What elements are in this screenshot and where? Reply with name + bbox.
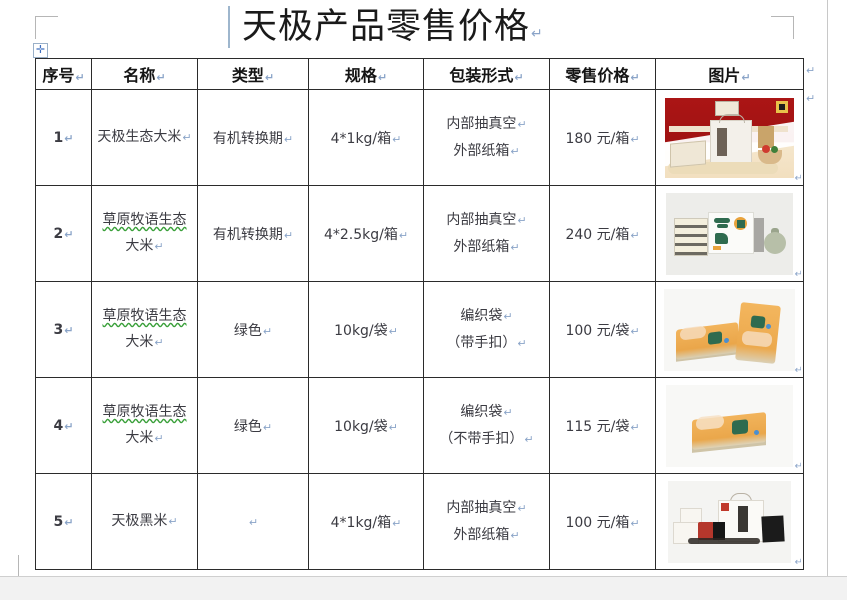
cell-type: 有机转换期↵ bbox=[198, 186, 309, 282]
pilcrow-icon: ↵ bbox=[502, 406, 512, 419]
page-right-margin bbox=[827, 0, 847, 576]
cell-name: 草原牧语生态 大米↵ bbox=[92, 282, 198, 378]
cell-price-value: 180 元/箱 bbox=[565, 131, 629, 147]
product-photo-4[interactable]: ↵ bbox=[658, 382, 801, 470]
cell-index-value: 5 bbox=[54, 514, 64, 530]
column-header-name-label: 名称 bbox=[123, 66, 155, 85]
cell-name: 天极黑米↵ bbox=[92, 474, 198, 570]
cell-packaging-text: （不带手扣） bbox=[439, 431, 523, 447]
pilcrow-icon: ↵ bbox=[629, 421, 639, 434]
cell-name-text: 大米 bbox=[125, 430, 153, 446]
cell-image: ↵ bbox=[656, 378, 804, 474]
cell-name-line1: 天极黑米↵ bbox=[92, 508, 197, 535]
pilcrow-icon: ↵ bbox=[795, 365, 801, 374]
pilcrow-icon: ↵ bbox=[388, 325, 398, 338]
pilcrow-icon: ↵ bbox=[283, 229, 293, 242]
cell-packaging-text: 外部纸箱 bbox=[453, 527, 509, 543]
cell-name-line1: 天极生态大米↵ bbox=[92, 124, 197, 151]
cell-name-text: 天极生态大米 bbox=[97, 129, 181, 145]
table-header: 序号↵ 名称↵ 类型↵ 规格↵ 包装形式↵ 零售价格↵ 图片↵ bbox=[36, 59, 804, 90]
pilcrow-icon: ↵ bbox=[63, 516, 73, 529]
table-move-handle-icon[interactable]: ✛ bbox=[33, 43, 48, 58]
pilcrow-icon: ↵ bbox=[167, 515, 177, 528]
column-header-spec: 规格↵ bbox=[309, 59, 424, 90]
pilcrow-icon: ↵ bbox=[63, 132, 73, 145]
cell-packaging-text: 外部纸箱 bbox=[453, 143, 509, 159]
cell-spec-value: 4*1kg/箱 bbox=[331, 515, 392, 531]
cell-image: ↵ bbox=[656, 90, 804, 186]
cell-index: 3↵ bbox=[36, 282, 92, 378]
pilcrow-icon: ↵ bbox=[388, 421, 398, 434]
cell-packaging-text: 外部纸箱 bbox=[453, 239, 509, 255]
document-title-block: 天极产品零售价格↵ bbox=[228, 4, 788, 52]
cell-price-value: 100 元/袋 bbox=[565, 323, 629, 339]
table-header-row: 序号↵ 名称↵ 类型↵ 规格↵ 包装形式↵ 零售价格↵ 图片↵ bbox=[36, 59, 804, 90]
cell-index: 1↵ bbox=[36, 90, 92, 186]
cell-name-text: 大米 bbox=[125, 238, 153, 254]
pilcrow-icon: ↵ bbox=[262, 325, 272, 338]
cell-index-value: 4 bbox=[54, 418, 64, 434]
cell-type-value: 有机转换期 bbox=[213, 227, 283, 243]
title-accent-bar bbox=[228, 6, 230, 48]
cell-spec: 4*1kg/箱↵ bbox=[309, 474, 424, 570]
cell-price: 180 元/箱↵ bbox=[550, 90, 656, 186]
cell-spec-value: 4*1kg/箱 bbox=[331, 131, 392, 147]
column-header-spec-label: 规格 bbox=[345, 66, 377, 85]
cell-packaging-line1: 内部抽真空↵ bbox=[424, 207, 549, 234]
cell-price: 100 元/箱↵ bbox=[550, 474, 656, 570]
cell-type-value: 有机转换期 bbox=[213, 131, 283, 147]
column-header-index-label: 序号 bbox=[42, 66, 74, 85]
pilcrow-icon: ↵ bbox=[629, 71, 639, 84]
pilcrow-icon: ↵ bbox=[502, 310, 512, 323]
pilcrow-icon: ↵ bbox=[629, 325, 639, 338]
cell-packaging-line1: 编织袋↵ bbox=[424, 303, 549, 330]
column-header-packaging-label: 包装形式 bbox=[449, 66, 513, 85]
pilcrow-icon: ↵ bbox=[629, 517, 639, 530]
cell-price: 115 元/袋↵ bbox=[550, 378, 656, 474]
product-photo-3[interactable]: ↵ bbox=[658, 286, 801, 374]
cell-name-line1: 草原牧语生态 bbox=[92, 207, 197, 233]
page-bottom-gutter bbox=[0, 576, 847, 600]
cell-name: 草原牧语生态 大米↵ bbox=[92, 186, 198, 282]
pilcrow-icon: ↵ bbox=[248, 516, 258, 529]
cell-spec-value: 10kg/袋 bbox=[334, 419, 388, 435]
cell-name-text: 大米 bbox=[125, 334, 153, 350]
column-header-price-label: 零售价格 bbox=[565, 66, 629, 85]
column-header-type-label: 类型 bbox=[232, 66, 264, 85]
pilcrow-icon: ↵ bbox=[153, 336, 163, 349]
product-photo-1[interactable]: ↵ bbox=[658, 94, 801, 182]
page-title: 天极产品零售价格↵ bbox=[242, 4, 544, 57]
pilcrow-icon: ↵ bbox=[516, 118, 526, 131]
cell-name-line2: 大米↵ bbox=[92, 329, 197, 356]
pilcrow-icon: ↵ bbox=[63, 228, 73, 241]
cell-spec: 10kg/袋↵ bbox=[309, 282, 424, 378]
column-header-packaging: 包装形式↵ bbox=[424, 59, 550, 90]
page-title-text: 天极产品零售价格 bbox=[242, 7, 530, 47]
cell-packaging-line2: 外部纸箱↵ bbox=[424, 234, 549, 261]
cell-packaging-text: 内部抽真空 bbox=[446, 116, 516, 132]
pilcrow-icon: ↵ bbox=[264, 71, 274, 84]
pilcrow-icon: ↵ bbox=[806, 64, 815, 77]
cell-image: ↵ bbox=[656, 474, 804, 570]
cell-name-line1: 草原牧语生态 bbox=[92, 399, 197, 425]
product-price-table: 序号↵ 名称↵ 类型↵ 规格↵ 包装形式↵ 零售价格↵ 图片↵ 1↵ 天极生态大… bbox=[35, 58, 804, 570]
cell-packaging-line2: 外部纸箱↵ bbox=[424, 522, 549, 549]
cell-name-text: 天极黑米 bbox=[111, 513, 167, 529]
pilcrow-icon: ↵ bbox=[530, 26, 544, 42]
pilcrow-icon: ↵ bbox=[283, 133, 293, 146]
product-photo-2[interactable]: ↵ bbox=[658, 190, 801, 278]
cell-image: ↵ bbox=[656, 282, 804, 378]
pilcrow-icon: ↵ bbox=[740, 71, 750, 84]
cell-type: 有机转换期↵ bbox=[198, 90, 309, 186]
cell-packaging: 编织袋↵ （带手扣）↵ bbox=[424, 282, 550, 378]
column-header-image-label: 图片 bbox=[708, 66, 740, 85]
cell-index-value: 3 bbox=[54, 322, 64, 338]
table-row: 1↵ 天极生态大米↵ 有机转换期↵ 4*1kg/箱↵ 内部抽真空↵ 外部纸箱↵ … bbox=[36, 90, 804, 186]
cell-index-value: 2 bbox=[54, 226, 64, 242]
cell-packaging: 内部抽真空↵ 外部纸箱↵ bbox=[424, 474, 550, 570]
pilcrow-icon: ↵ bbox=[516, 337, 526, 350]
pilcrow-icon: ↵ bbox=[516, 502, 526, 515]
pilcrow-icon: ↵ bbox=[391, 517, 401, 530]
pilcrow-icon: ↵ bbox=[629, 229, 639, 242]
pilcrow-icon: ↵ bbox=[377, 71, 387, 84]
column-header-type: 类型↵ bbox=[198, 59, 309, 90]
pilcrow-icon: ↵ bbox=[155, 71, 165, 84]
pilcrow-icon: ↵ bbox=[262, 421, 272, 434]
table-row: 3↵ 草原牧语生态 大米↵ 绿色↵ 10kg/袋↵ 编织袋↵ （带手扣）↵ 10… bbox=[36, 282, 804, 378]
cell-packaging-line1: 内部抽真空↵ bbox=[424, 111, 549, 138]
cell-name: 天极生态大米↵ bbox=[92, 90, 198, 186]
pilcrow-icon: ↵ bbox=[509, 241, 519, 254]
cell-price: 100 元/袋↵ bbox=[550, 282, 656, 378]
cell-spec-value: 4*2.5kg/箱 bbox=[324, 227, 398, 243]
pilcrow-icon: ↵ bbox=[509, 529, 519, 542]
cell-index-value: 1 bbox=[54, 130, 64, 146]
table-row: 4↵ 草原牧语生态 大米↵ 绿色↵ 10kg/袋↵ 编织袋↵ （不带手扣）↵ 1… bbox=[36, 378, 804, 474]
cell-type: ↵ bbox=[198, 474, 309, 570]
cell-name-line2: 大米↵ bbox=[92, 233, 197, 260]
column-header-image: 图片↵ bbox=[656, 59, 804, 90]
cell-index: 4↵ bbox=[36, 378, 92, 474]
cell-type-value: 绿色 bbox=[234, 323, 262, 339]
cell-packaging-line2: （不带手扣）↵ bbox=[424, 426, 549, 453]
pilcrow-icon: ↵ bbox=[63, 420, 73, 433]
cell-packaging-line1: 编织袋↵ bbox=[424, 399, 549, 426]
cell-packaging-line2: 外部纸箱↵ bbox=[424, 138, 549, 165]
cell-spec: 10kg/袋↵ bbox=[309, 378, 424, 474]
cell-spec: 4*1kg/箱↵ bbox=[309, 90, 424, 186]
cell-index: 2↵ bbox=[36, 186, 92, 282]
cell-type-value: 绿色 bbox=[234, 419, 262, 435]
pilcrow-icon: ↵ bbox=[516, 214, 526, 227]
pilcrow-icon: ↵ bbox=[181, 131, 191, 144]
pilcrow-icon: ↵ bbox=[509, 145, 519, 158]
cell-packaging-line2: （带手扣）↵ bbox=[424, 330, 549, 357]
cell-packaging-line1: 内部抽真空↵ bbox=[424, 495, 549, 522]
cell-name-text: 草原牧语生态 bbox=[103, 308, 187, 324]
cell-price: 240 元/箱↵ bbox=[550, 186, 656, 282]
cell-type: 绿色↵ bbox=[198, 378, 309, 474]
cell-image: ↵ bbox=[656, 186, 804, 282]
table-row: 2↵ 草原牧语生态 大米↵ 有机转换期↵ 4*2.5kg/箱↵ 内部抽真空↵ 外… bbox=[36, 186, 804, 282]
cell-name-line1: 草原牧语生态 bbox=[92, 303, 197, 329]
cell-spec: 4*2.5kg/箱↵ bbox=[309, 186, 424, 282]
cell-price-value: 240 元/箱 bbox=[565, 227, 629, 243]
pilcrow-icon: ↵ bbox=[795, 269, 801, 278]
column-header-index: 序号↵ bbox=[36, 59, 92, 90]
cell-spec-value: 10kg/袋 bbox=[334, 323, 388, 339]
cell-packaging: 内部抽真空↵ 外部纸箱↵ bbox=[424, 90, 550, 186]
cell-packaging: 内部抽真空↵ 外部纸箱↵ bbox=[424, 186, 550, 282]
pilcrow-icon: ↵ bbox=[513, 71, 523, 84]
pilcrow-icon: ↵ bbox=[795, 173, 801, 182]
column-header-price: 零售价格↵ bbox=[550, 59, 656, 90]
cell-packaging-text: （带手扣） bbox=[446, 335, 516, 351]
cell-packaging-text: 内部抽真空 bbox=[446, 212, 516, 228]
column-header-name: 名称↵ bbox=[92, 59, 198, 90]
document-page: 天极产品零售价格↵ ✛ 序号↵ 名称↵ 类型↵ 规格↵ 包装形式↵ 零售价格↵ … bbox=[0, 0, 827, 576]
pilcrow-icon: ↵ bbox=[795, 461, 801, 470]
cell-packaging-text: 编织袋 bbox=[460, 404, 502, 420]
cell-name-line2: 大米↵ bbox=[92, 425, 197, 452]
pilcrow-icon: ↵ bbox=[153, 240, 163, 253]
cell-index: 5↵ bbox=[36, 474, 92, 570]
pilcrow-icon: ↵ bbox=[398, 229, 408, 242]
table-body: 1↵ 天极生态大米↵ 有机转换期↵ 4*1kg/箱↵ 内部抽真空↵ 外部纸箱↵ … bbox=[36, 90, 804, 570]
cell-packaging-text: 编织袋 bbox=[460, 308, 502, 324]
cell-packaging-text: 内部抽真空 bbox=[446, 500, 516, 516]
cell-name-text: 草原牧语生态 bbox=[103, 212, 187, 228]
margin-corner-top-left bbox=[35, 16, 58, 39]
pilcrow-icon: ↵ bbox=[391, 133, 401, 146]
cell-name-text: 草原牧语生态 bbox=[103, 404, 187, 420]
product-photo-5[interactable]: ↵ bbox=[658, 478, 801, 566]
cell-type: 绿色↵ bbox=[198, 282, 309, 378]
pilcrow-icon: ↵ bbox=[74, 71, 84, 84]
cell-name: 草原牧语生态 大米↵ bbox=[92, 378, 198, 474]
cell-price-value: 100 元/箱 bbox=[565, 515, 629, 531]
cell-price-value: 115 元/袋 bbox=[565, 419, 629, 435]
pilcrow-icon: ↵ bbox=[523, 433, 533, 446]
pilcrow-icon: ↵ bbox=[153, 432, 163, 445]
table-row: 5↵ 天极黑米↵ ↵ 4*1kg/箱↵ 内部抽真空↵ 外部纸箱↵ 100 元/箱… bbox=[36, 474, 804, 570]
pilcrow-icon: ↵ bbox=[63, 324, 73, 337]
pilcrow-icon: ↵ bbox=[795, 557, 801, 566]
pilcrow-icon: ↵ bbox=[806, 92, 815, 105]
cell-packaging: 编织袋↵ （不带手扣）↵ bbox=[424, 378, 550, 474]
pilcrow-icon: ↵ bbox=[629, 133, 639, 146]
